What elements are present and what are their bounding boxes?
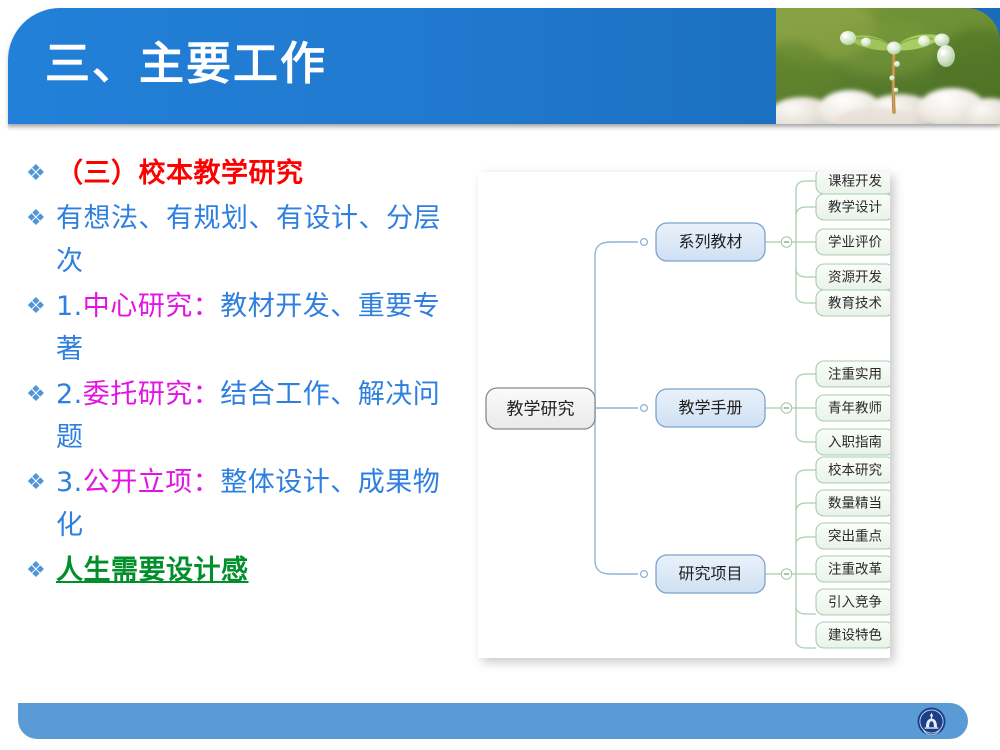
- bullet-list: ❖ （三）校本教学研究 ❖ 有想法、有规划、有设计、分层次 ❖ 1.中心研究：教…: [26, 152, 446, 594]
- slide-root: 三、主要工作 ❖ （三）校本教学研究 ❖ 有想法、有规划、有设计、分层次 ❖ 1…: [0, 0, 1000, 750]
- mindmap-leaf-group-2: 注重实用 青年教师 入职指南: [816, 361, 890, 455]
- mindmap-leaf-label: 校本研究: [828, 462, 882, 479]
- mindmap-leaf-label: 注重改革: [828, 562, 882, 578]
- footer-bar: [18, 703, 968, 739]
- header-photo: [776, 8, 1000, 124]
- mindmap-diagram: 教学研究 系列教材: [478, 172, 890, 658]
- bullet-item-4: ❖ 2.委托研究：结合工作、解决问题: [26, 373, 446, 459]
- mindmap-leaf-label: 建设特色: [828, 627, 882, 644]
- mindmap-leaf-label: 注重实用: [828, 367, 882, 383]
- mindmap-leaf-label: 教学设计: [828, 200, 882, 216]
- diamond-bullet-icon: ❖: [26, 461, 56, 504]
- bullet-item-3: ❖ 1.中心研究：教材开发、重要专著: [26, 285, 446, 371]
- diamond-bullet-icon: ❖: [26, 152, 56, 195]
- mindmap-leaf-label: 入职指南: [828, 435, 882, 451]
- bullet-accent-4: 委托研究：: [83, 379, 221, 410]
- mindmap-leaf-label: 突出重点: [828, 529, 882, 545]
- bullet-item-5: ❖ 3.公开立项：整体设计、成果物化: [26, 461, 446, 547]
- diamond-bullet-icon: ❖: [26, 549, 56, 592]
- mindmap-branch-label-2: 教学手册: [678, 398, 742, 417]
- bullet-number-3: 1.: [56, 291, 83, 322]
- bullet-item-6: ❖ 人生需要设计感: [26, 549, 446, 592]
- bullet-item-1: ❖ （三）校本教学研究: [26, 152, 446, 195]
- diamond-bullet-icon: ❖: [26, 285, 56, 328]
- mindmap-leaf-group-1: 课程开发 教学设计 学业评价 资源开发 教育技术: [816, 172, 890, 316]
- mindmap-branch-label-3: 研究项目: [678, 564, 742, 583]
- mindmap-leaf-label: 青年教师: [828, 401, 882, 417]
- mindmap-branch-label-1: 系列教材: [678, 232, 742, 251]
- bullet-number-4: 2.: [56, 379, 83, 410]
- mindmap-root-label: 教学研究: [507, 400, 575, 420]
- diamond-bullet-icon: ❖: [26, 373, 56, 416]
- bullet-text-2: 有想法、有规划、有设计、分层次: [56, 197, 446, 283]
- diamond-bullet-icon: ❖: [26, 197, 56, 240]
- header-shadow: [8, 124, 1000, 131]
- bullet-accent-3: 中心研究：: [83, 291, 221, 322]
- mindmap-leaf-label: 教育技术: [828, 296, 882, 312]
- bullet-item-2: ❖ 有想法、有规划、有设计、分层次: [26, 197, 446, 283]
- bullet-text-1: （三）校本教学研究: [56, 152, 304, 195]
- bullet-text-6: 人生需要设计感: [56, 549, 249, 592]
- page-title: 三、主要工作: [45, 36, 327, 92]
- bullet-text-5: 3.公开立项：整体设计、成果物化: [56, 461, 446, 547]
- bullet-number-5: 3.: [56, 467, 83, 498]
- bullet-text-3: 1.中心研究：教材开发、重要专著: [56, 285, 446, 371]
- mindmap-leaf-label: 引入竞争: [828, 594, 882, 611]
- bullet-accent-5: 公开立项：: [83, 467, 221, 498]
- mindmap-leaf-label: 学业评价: [828, 235, 882, 251]
- mindmap-leaf-label: 资源开发: [828, 270, 882, 286]
- mindmap-leaf-label: 数量精当: [828, 496, 882, 512]
- mindmap-root-node: 教学研究: [486, 388, 595, 429]
- bullet-text-4: 2.委托研究：结合工作、解决问题: [56, 373, 446, 459]
- mindmap-leaf-label: 课程开发: [828, 174, 882, 190]
- school-emblem-icon: [917, 707, 946, 736]
